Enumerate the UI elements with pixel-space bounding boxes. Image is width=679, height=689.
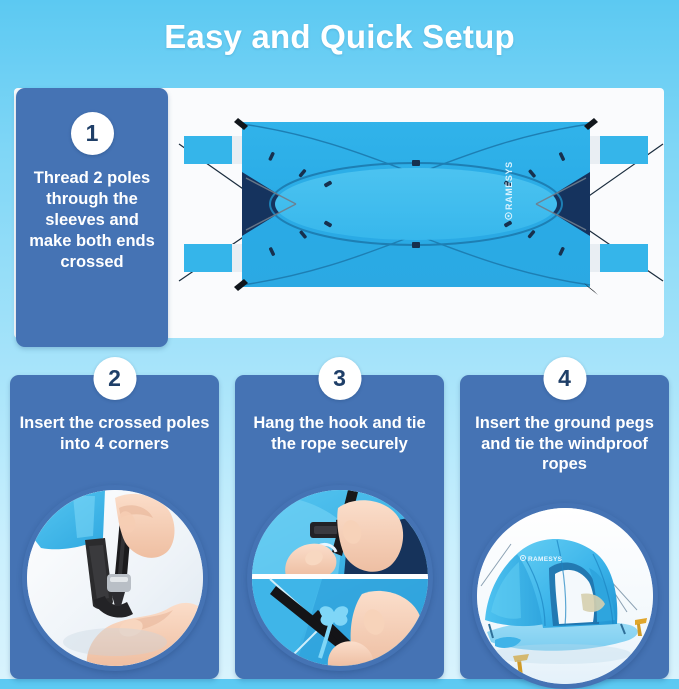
step-4-photo: RAMESYS	[472, 503, 658, 689]
step-4-panel: 4 Insert the ground pegs and tie the win…	[460, 375, 669, 679]
page-title: Easy and Quick Setup	[0, 18, 679, 56]
brand-logo-step4-text: RAMESYS	[528, 556, 563, 563]
brand-logo-text: RAMESYS	[504, 161, 514, 210]
step-1-badge: 1	[71, 112, 114, 155]
step-2-text: Insert the crossed poles into 4 corners	[10, 413, 219, 454]
step-2-photo	[22, 485, 208, 671]
steps-row: 2 Insert the crossed poles into 4 corner…	[0, 358, 679, 679]
step-3-panel: 3 Hang the hook and tie the rope securel…	[235, 375, 444, 679]
step-4-badge: 4	[543, 357, 586, 400]
tent-flat-diagram: RAMESYS	[176, 96, 666, 331]
step-3-photo	[247, 485, 433, 671]
canopy-dome	[275, 168, 557, 240]
step-4-text: Insert the ground pegs and tie the windp…	[460, 413, 669, 475]
step-3-photo-bottom	[252, 579, 428, 666]
step-2-panel: 2 Insert the crossed poles into 4 corner…	[10, 375, 219, 679]
side-tab-group-right	[590, 136, 648, 272]
step-1-panel: 1 Thread 2 poles through the sleeves and…	[16, 88, 168, 347]
step-3-badge: 3	[318, 357, 361, 400]
step-1-text: Thread 2 poles through the sleeves and m…	[16, 168, 168, 274]
brand-logo: RAMESYS	[504, 161, 514, 219]
step-3-text: Hang the hook and tie the rope securely	[235, 413, 444, 454]
step-3-photo-top	[252, 490, 428, 576]
step-2-badge: 2	[93, 357, 136, 400]
side-tab-group-left	[184, 136, 242, 272]
